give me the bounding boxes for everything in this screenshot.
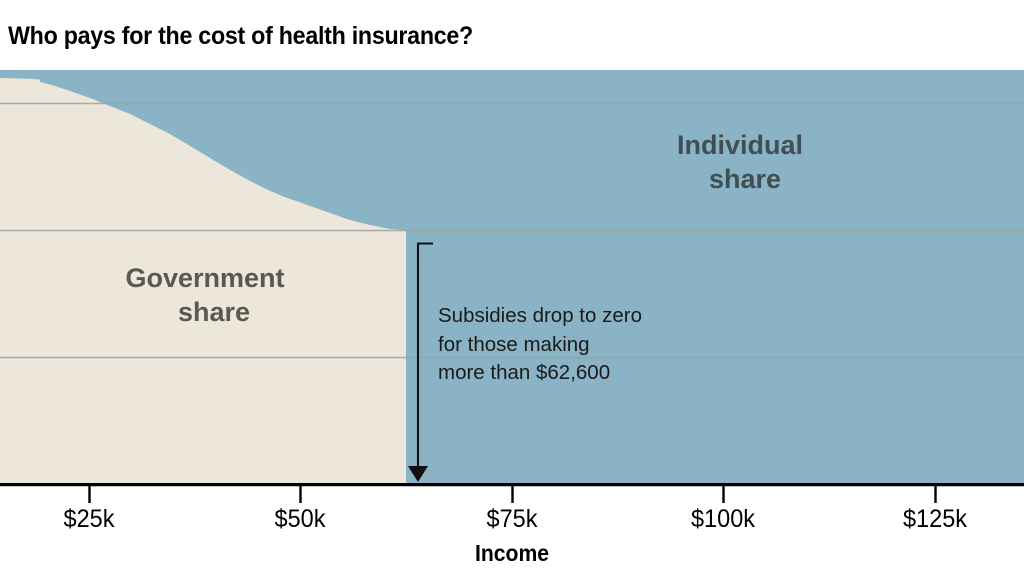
x-tick-label-75k: $75k bbox=[487, 505, 538, 534]
x-tick-label-100k: $100k bbox=[691, 505, 755, 534]
x-tick-label-50k: $50k bbox=[275, 505, 326, 534]
chart-plot-area: Government share Individual share Subsid… bbox=[0, 70, 1024, 483]
x-axis-title: Income bbox=[475, 540, 549, 567]
stacked-area-chart bbox=[0, 70, 1024, 483]
page-title: Who pays for the cost of health insuranc… bbox=[8, 22, 473, 51]
x-tick-label-25k: $25k bbox=[64, 505, 115, 534]
x-axis: $25k $50k $75k $100k $125k Income bbox=[0, 483, 1024, 577]
x-tick-label-125k: $125k bbox=[903, 505, 967, 534]
